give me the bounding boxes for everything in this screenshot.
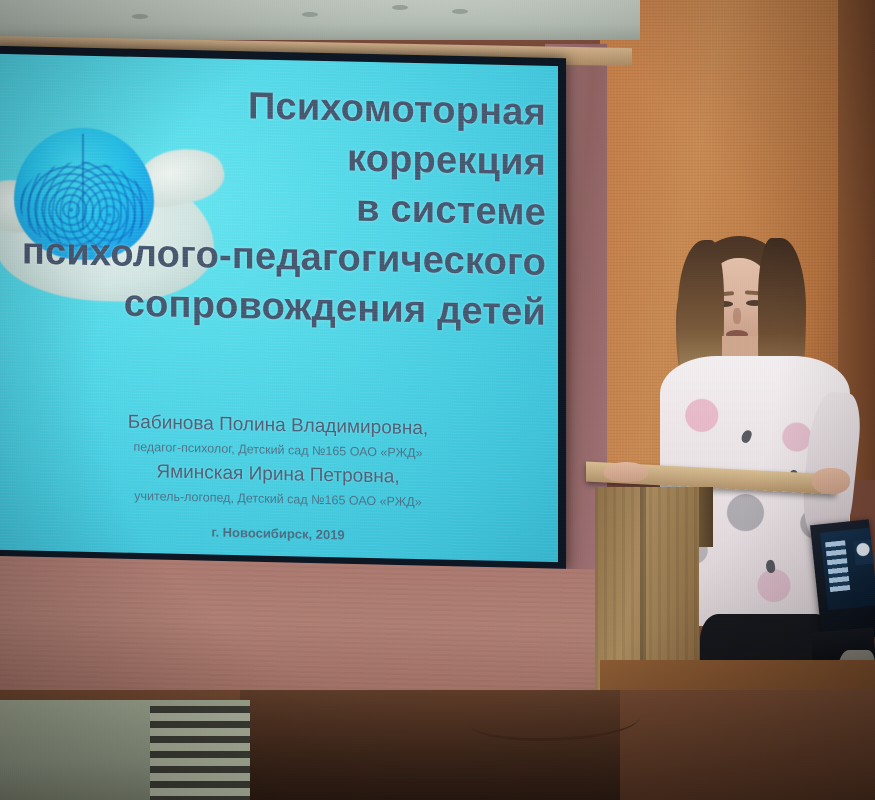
- ceiling-fixture-icon: [132, 14, 148, 19]
- ceiling-fixture-icon: [392, 5, 408, 10]
- ceiling: [0, 0, 640, 40]
- presenter-hand-right: [812, 468, 850, 494]
- monitor-text-panel: [825, 540, 850, 592]
- presentation-photo-scene: Психомоторная коррекция в системе психол…: [0, 0, 875, 800]
- presenter-hand-left: [604, 462, 648, 482]
- projection-screen[interactable]: Психомоторная коррекция в системе психол…: [0, 46, 566, 571]
- presentation-slide: Психомоторная коррекция в системе психол…: [0, 54, 558, 562]
- slide-city-year: г. Новосибирск, 2019: [0, 520, 558, 547]
- ceiling-fixture-icon: [302, 12, 318, 17]
- monitor-portrait-thumbnail: [853, 540, 873, 566]
- radiator-fins: [150, 706, 250, 800]
- presenter-nose: [733, 308, 741, 324]
- slide-authors: Бабинова Полина Владимировна, педагог-пс…: [0, 406, 558, 547]
- side-monitor-screen[interactable]: [820, 528, 875, 611]
- slide-title: Психомоторная коррекция в системе психол…: [0, 76, 546, 338]
- ceiling-fixture-icon: [452, 9, 468, 14]
- slide-title-line-5: сопровождения детей: [0, 276, 546, 338]
- lectern-side: [699, 487, 713, 547]
